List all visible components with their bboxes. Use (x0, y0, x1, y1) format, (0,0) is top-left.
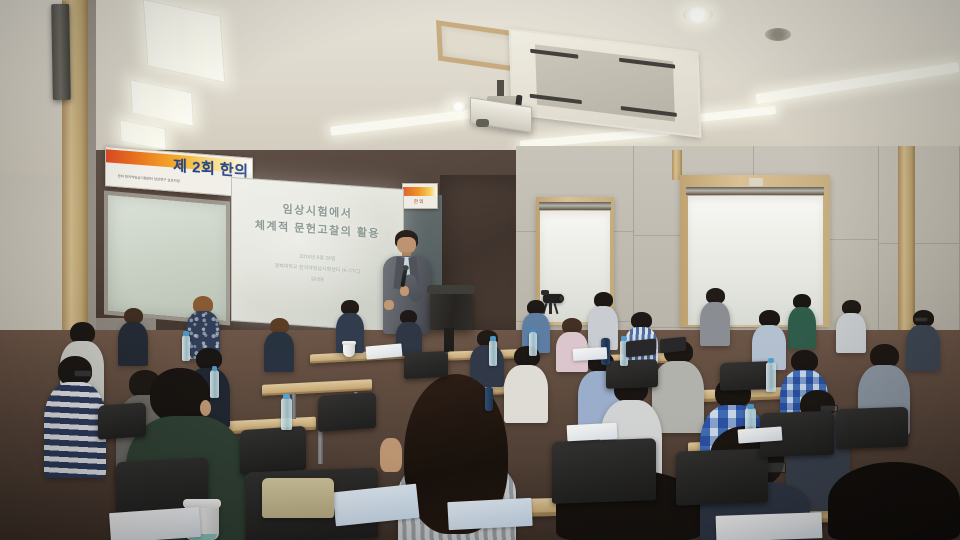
small-banner: 한 의 (402, 183, 438, 209)
paper-stack[interactable] (447, 498, 532, 530)
audience-head (828, 462, 960, 540)
water-bottle[interactable] (529, 332, 537, 356)
audience-body (264, 332, 294, 372)
chair[interactable] (318, 392, 376, 432)
list-item (118, 308, 148, 364)
audience-head (196, 348, 222, 370)
cup-lid (342, 341, 356, 345)
chair[interactable] (404, 351, 448, 379)
water-bottle[interactable] (489, 340, 497, 366)
list-item (828, 462, 960, 540)
water-bottle[interactable] (766, 362, 776, 392)
chair[interactable] (98, 402, 146, 439)
sprinkler-head (765, 28, 791, 41)
laptop[interactable] (660, 337, 686, 354)
chair[interactable] (676, 448, 768, 505)
eyeglasses (914, 317, 928, 322)
audience-body (906, 325, 940, 371)
water-bottle[interactable] (182, 335, 190, 361)
event-banner-subtext: 한의 한의약임상시험센터 임상연구 심포지엄 (118, 173, 180, 183)
presenter-hand (400, 286, 409, 296)
paper-stack[interactable] (573, 347, 608, 361)
audience-hand (380, 438, 402, 472)
audience-body (788, 307, 816, 349)
water-bottle[interactable] (281, 398, 292, 430)
chair[interactable] (720, 361, 772, 391)
audience-body (118, 322, 148, 366)
projector-lens (476, 119, 489, 127)
list-item (44, 356, 106, 476)
chair[interactable] (240, 426, 306, 475)
tumbler[interactable] (485, 387, 493, 411)
wood-column-left-edge (88, 0, 96, 332)
paper-stack[interactable] (567, 423, 618, 442)
list-item (788, 294, 816, 348)
seminar-room-photo: 제 2회 한의 한의 한의약임상시험센터 임상연구 심포지엄 한 의 임상시험에… (0, 0, 960, 540)
lectern-podium (430, 288, 472, 330)
podium-stem (444, 328, 454, 352)
audience-head (791, 350, 818, 372)
chair[interactable] (606, 359, 658, 389)
bag[interactable] (262, 478, 334, 518)
wall-mounted-speaker (51, 4, 71, 100)
small-banner-text: 한 의 (414, 199, 424, 205)
chair[interactable] (836, 407, 908, 450)
laptop[interactable] (626, 338, 656, 357)
list-item (700, 288, 730, 346)
audience-body (700, 302, 730, 346)
eyeglasses (74, 370, 92, 377)
water-bottle[interactable] (210, 370, 219, 398)
audience-ear (200, 400, 211, 416)
audience-body (44, 382, 106, 478)
desk-leg (292, 393, 296, 419)
paper-stack[interactable] (109, 507, 201, 540)
chair[interactable] (552, 438, 656, 504)
presenter-hand-left (384, 300, 394, 310)
paper-stack[interactable] (716, 512, 823, 540)
downlight-2 (450, 102, 467, 112)
desk-leg (318, 430, 323, 464)
list-item (264, 318, 294, 370)
coffee-cup-small[interactable] (343, 342, 355, 357)
list-item (906, 310, 940, 370)
downlight-1 (683, 7, 713, 23)
